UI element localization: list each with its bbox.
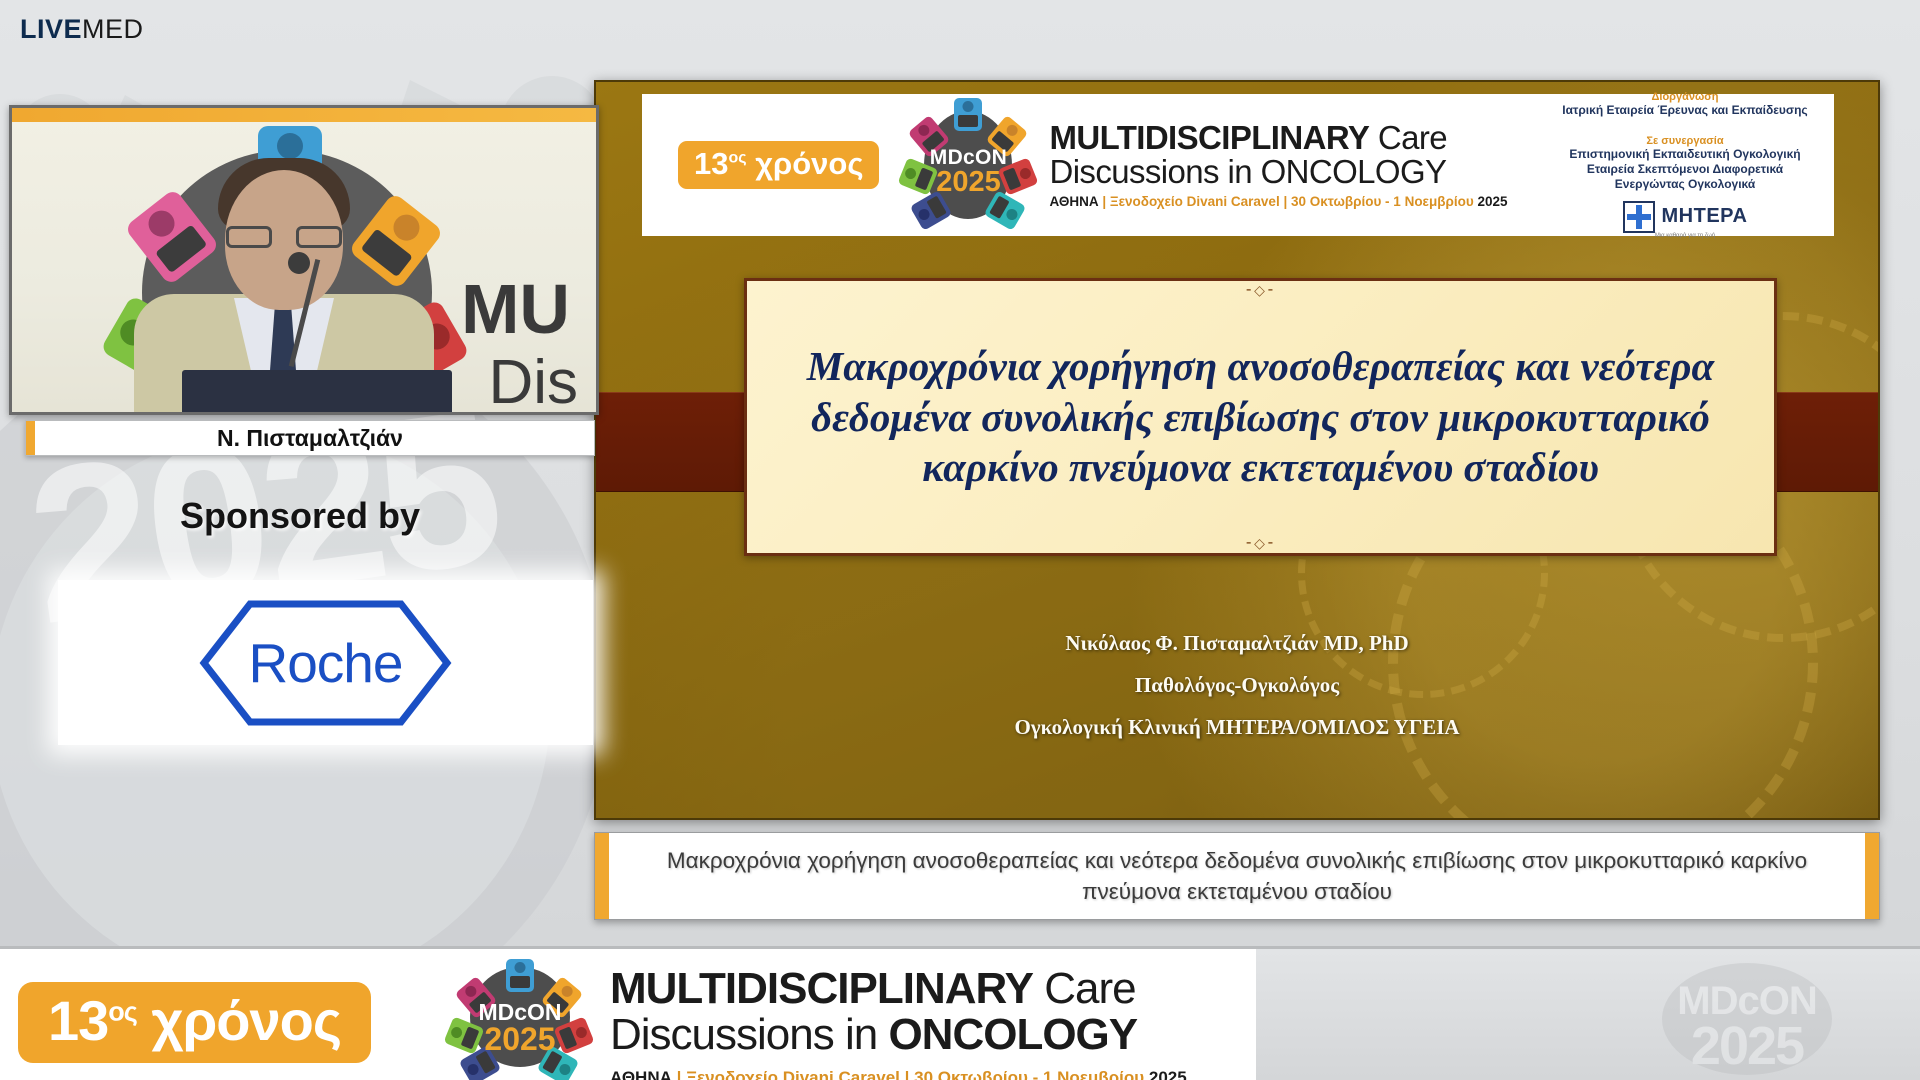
livemed-logo-live: LIVE xyxy=(20,14,82,44)
slide-organizers-block: Διοργάνωση Ιατρική Εταιρεία Έρευνας και … xyxy=(1560,91,1810,238)
speaker-name-label: Ν. Πισταμαλτζιάν xyxy=(217,425,403,452)
title-card-ornament-bottom: ⁃◇⁃ xyxy=(1245,535,1276,552)
mitera-logo-name: ΜΗΤΕΡΑ xyxy=(1662,205,1748,228)
mitera-tagline: Μια καθαρά για τη ζωή xyxy=(1560,233,1810,239)
organizer-label-1: Διοργάνωση xyxy=(1560,91,1810,103)
presenter-glasses xyxy=(226,226,342,248)
organizer-value-1: Ιατρική Εταιρεία Έρευνας και Εκπαίδευσης xyxy=(1560,103,1810,118)
slide-header-text-block: MULTIDISCIPLINARY Care Discussions in ON… xyxy=(1049,121,1507,209)
author-role: Παθολόγος-Ογκολόγος xyxy=(596,664,1878,706)
slide-title-card: ⁃◇⁃ Μακροχρόνια χορήγηση ανοσοθεραπείας … xyxy=(744,278,1777,556)
footer-year-badge: 13ος χρόνος xyxy=(18,982,371,1063)
roche-logo-text: Roche xyxy=(198,598,453,728)
footer-mdcon-logo-icon: MDcON 2025 xyxy=(440,957,600,1075)
organizer-value-2: Επιστημονική Εκπαιδευτική Ογκολογική Ετα… xyxy=(1560,147,1810,193)
slide-year-badge-sup: ος xyxy=(728,150,746,167)
footer-watermark-logo: MDcON 2025 xyxy=(1602,963,1892,1073)
sponsored-by-label: Sponsored by xyxy=(0,495,600,537)
footer-venue-year: 2025 xyxy=(1149,1068,1187,1080)
page-footer: 13ος χρόνος MDcON 2025 MULTIDISCIPLINARY… xyxy=(0,946,1920,1080)
footer-line1-light: Care xyxy=(1044,964,1135,1013)
footer-year-badge-number: 13 xyxy=(48,989,108,1052)
organizer-label-2: Σε συνεργασία xyxy=(1560,135,1810,147)
roche-logo: Roche xyxy=(198,598,453,728)
video-backdrop-dis-text: Dis xyxy=(488,354,578,413)
footer-watermark-year: 2025 xyxy=(1602,1015,1892,1077)
author-affiliation: Ογκολογική Κλινική ΜΗΤΕΡΑ/ΟΜΙΛΟΣ ΥΓΕΙΑ xyxy=(596,706,1878,748)
slide-year-badge: 13ος χρόνος xyxy=(678,141,879,189)
slide-venue-hotel: Ξενοδοχείο Divani Caravel xyxy=(1110,194,1280,209)
session-caption-text: Μακροχρόνια χορήγηση ανοσοθεραπείας και … xyxy=(647,845,1827,907)
video-backdrop-topbar xyxy=(12,108,596,122)
session-caption-bar: Μακροχρόνια χορήγηση ανοσοθεραπείας και … xyxy=(594,832,1880,920)
title-card-ornament-top: ⁃◇⁃ xyxy=(1245,282,1276,299)
mitera-logo: ΜΗΤΕΡΑ xyxy=(1560,201,1810,233)
livemed-logo: LIVEMED xyxy=(20,14,144,45)
slide-venue-dates: 30 Οκτωβρίου - 1 Νοεμβρίου xyxy=(1291,194,1474,209)
slide-year-badge-word: χρόνος xyxy=(755,146,863,181)
footer-year-badge-word: χρόνος xyxy=(151,989,341,1052)
footer-year-badge-sup: ος xyxy=(108,996,137,1026)
mitera-cross-icon xyxy=(1623,201,1655,233)
sponsor-logo-card: Roche xyxy=(58,580,593,745)
slide-header-line2-light: Discussions in xyxy=(1049,153,1252,190)
slide-year-badge-number: 13 xyxy=(694,146,728,181)
microphone-icon xyxy=(288,252,310,274)
slide-header-line2-bold: ONCOLOGY xyxy=(1261,153,1447,190)
footer-venue-hotel: Ξενοδοχείο Divani Caravel xyxy=(686,1068,900,1080)
slide-header-banner: 13ος χρόνος MDcON 2025 MULTIDISCIPLINARY… xyxy=(642,94,1834,236)
author-name: Νικόλαος Φ. Πισταμαλτζιάν MD, PhD xyxy=(596,622,1878,664)
slide-venue-city: ΑΘΗΝΑ xyxy=(1049,194,1098,209)
footer-venue-city: ΑΘΗΝΑ xyxy=(610,1068,672,1080)
slide-author-block: Νικόλαος Φ. Πισταμαλτζιάν MD, PhD Παθολό… xyxy=(596,622,1878,748)
footer-text-block: MULTIDISCIPLINARY Care Discussions in ON… xyxy=(610,967,1187,1080)
mdcon-logo-year: 2025 xyxy=(901,166,1035,199)
speaker-name-bar: Ν. Πισταμαλτζιάν xyxy=(25,420,595,456)
slide-header-line1-bold: MULTIDISCIPLINARY xyxy=(1049,119,1369,156)
footer-line2-light: Discussions in xyxy=(610,1010,877,1059)
video-backdrop-mu-text: MU xyxy=(461,276,570,343)
slide-header-line1-light: Care xyxy=(1378,119,1447,156)
footer-line1-bold: MULTIDISCIPLINARY xyxy=(610,964,1033,1013)
footer-logo-year: 2025 xyxy=(440,1021,600,1058)
presentation-slide[interactable]: 13ος χρόνος MDcON 2025 MULTIDISCIPLINARY… xyxy=(594,80,1880,820)
speaker-video-player[interactable]: MDcON MU Dis xyxy=(9,105,599,415)
mdcon-logo-icon: MDcON 2025 xyxy=(901,98,1035,232)
presenter-podium xyxy=(182,370,452,415)
slide-venue-year: 2025 xyxy=(1477,194,1507,209)
footer-line2-bold: ONCOLOGY xyxy=(888,1010,1137,1059)
slide-title-text: Μακροχρόνια χορήγηση ανοσοθεραπείας και … xyxy=(747,341,1774,492)
livemed-logo-med: MED xyxy=(82,14,144,44)
footer-venue-dates: 30 Οκτωβρίου - 1 Νοεμβρίου xyxy=(914,1068,1144,1080)
